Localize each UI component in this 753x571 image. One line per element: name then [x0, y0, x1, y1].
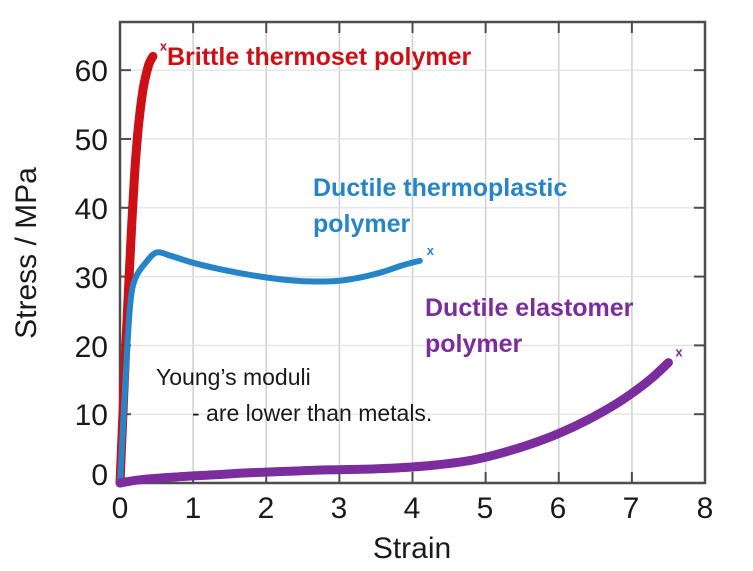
y-tick-label-10: 10: [75, 399, 108, 432]
annotation-youngs-moduli-line2: - are lower than metals.: [192, 400, 432, 426]
x-tick-label-6: 6: [550, 492, 567, 525]
y-axis-title: Stress / MPa: [10, 167, 43, 339]
x-tick-label-5: 5: [477, 492, 494, 525]
series-label-ductile-elastomer-line2: polymer: [425, 330, 523, 358]
x-tick-label-7: 7: [623, 492, 640, 525]
x-tick-label-4: 4: [404, 492, 421, 525]
y-tick-label-60: 60: [75, 55, 108, 88]
x-tick-label-0: 0: [112, 492, 129, 525]
y-tick-label-20: 20: [75, 331, 108, 364]
x-tick-label-3: 3: [331, 492, 348, 525]
chart-svg: 0 10 20 30 40 50 60 0 1 2 3 4 5 6 7 8 St…: [0, 0, 753, 571]
y-tick-label-40: 40: [75, 193, 108, 226]
x-axis-title: Strain: [373, 532, 451, 565]
series-label-brittle-thermoset: Brittle thermoset polymer: [167, 43, 472, 71]
x-tick-label-2: 2: [258, 492, 275, 525]
series-label-ductile-elastomer-line1: Ductile elastomer: [425, 294, 634, 322]
chart-background: [0, 0, 753, 571]
y-tick-label-0: 0: [91, 459, 108, 492]
series-label-ductile-thermoplastic-line2: polymer: [313, 210, 411, 238]
y-tick-label-50: 50: [75, 124, 108, 157]
annotation-youngs-moduli-line1: Young’s moduli: [156, 364, 311, 390]
failure-point-x-marker: x: [675, 345, 683, 360]
x-tick-label-8: 8: [697, 492, 714, 525]
stress-strain-chart: 0 10 20 30 40 50 60 0 1 2 3 4 5 6 7 8 St…: [0, 0, 753, 571]
series-label-ductile-thermoplastic-line1: Ductile thermoplastic: [313, 174, 567, 202]
x-tick-label-1: 1: [185, 492, 202, 525]
failure-point-x-marker: x: [427, 243, 435, 258]
y-tick-label-30: 30: [75, 262, 108, 295]
